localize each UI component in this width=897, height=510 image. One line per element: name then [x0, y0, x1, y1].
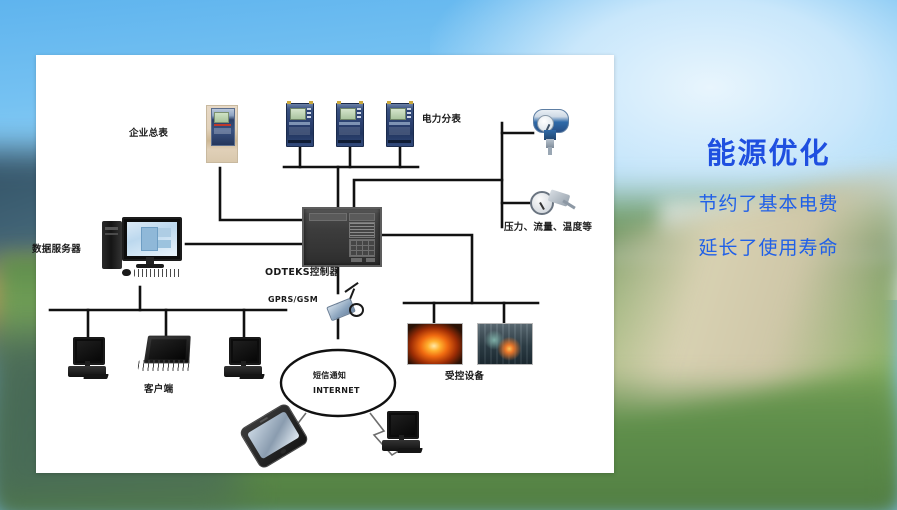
- client-screen: [233, 341, 257, 361]
- sub-meter-band2: [389, 127, 410, 135]
- phone-home-button[interactable]: [279, 448, 286, 454]
- odteks-controller-device[interactable]: [302, 207, 382, 267]
- main-meter-board: [206, 105, 238, 163]
- sub-meter-tab-right: [409, 101, 413, 104]
- sub-meters-label: 电力分表: [422, 115, 461, 126]
- sensors-label: 压力、流量、温度等: [504, 223, 592, 234]
- sub-meter-band: [389, 122, 410, 125]
- remote-pc[interactable]: [382, 411, 422, 455]
- client-pc-2[interactable]: [224, 337, 264, 381]
- sub-meter-keys: [307, 108, 311, 118]
- sub-meter-tab-left: [387, 101, 391, 104]
- modem-cable-loop: [349, 303, 364, 317]
- server-keyboard: [134, 269, 182, 277]
- controller-button-2[interactable]: [366, 258, 375, 262]
- controller-button-1[interactable]: [351, 258, 362, 262]
- flow-gauge-device[interactable]: [530, 187, 576, 221]
- controller-keypad[interactable]: [349, 239, 375, 257]
- sub-meter-tab-left: [337, 101, 341, 104]
- sub-meter-2[interactable]: [336, 103, 364, 147]
- benefit-line-2: 延长了使用寿命: [640, 233, 897, 260]
- sub-meter-seal: [388, 140, 411, 143]
- cloud-label-sms: 短信通知: [313, 371, 346, 380]
- sub-meter-seal: [288, 140, 311, 143]
- client-keyboard: [239, 374, 265, 379]
- sub-meter-band: [339, 122, 360, 125]
- main-meter-body: [211, 108, 235, 146]
- sub-meter-3[interactable]: [386, 103, 414, 147]
- server-drive-bay-2: [105, 233, 118, 235]
- sub-meter-keys: [357, 108, 361, 118]
- main-meter-lcd: [214, 112, 229, 123]
- remote-screen: [391, 415, 415, 435]
- server-screen: [127, 222, 177, 256]
- remote-keyboard: [397, 448, 423, 453]
- sub-meter-band: [289, 122, 310, 125]
- sub-meter-1[interactable]: [286, 103, 314, 147]
- controlled-equipment-photo-furnace: [407, 323, 463, 365]
- server-drive-bay: [105, 227, 118, 230]
- sub-meter-tab-right: [359, 101, 363, 104]
- server-screen-window: [141, 227, 158, 251]
- controller-display: [349, 222, 375, 238]
- client-laptop[interactable]: [138, 335, 194, 375]
- data-server-label: 数据服务器: [32, 245, 81, 256]
- pressure-transmitter-device[interactable]: [533, 107, 567, 157]
- controlled-equipment-photo-plant: [477, 323, 533, 365]
- sub-meter-band2: [289, 127, 310, 135]
- client-screen: [77, 341, 101, 361]
- client-keyboard: [83, 374, 109, 379]
- laptop-screen: [148, 339, 186, 359]
- sub-meter-tab-left: [287, 101, 291, 104]
- page-title: 能源优化: [640, 130, 897, 172]
- diagram-panel: 企业总表 电力分表: [36, 55, 614, 473]
- cloud-label-internet: INTERNET: [313, 386, 360, 395]
- main-meter-lowerstrip: [214, 128, 231, 134]
- clients-label: 客户端: [144, 385, 173, 396]
- monitor-base: [136, 264, 164, 268]
- laptop-base: [137, 360, 193, 371]
- sub-meter-seal: [338, 140, 361, 143]
- server-screen-panel-1: [158, 228, 171, 237]
- gprs-modem-device[interactable]: [328, 293, 362, 319]
- transmitter-tip: [548, 147, 552, 155]
- gprs-label: GPRS/GSM: [268, 295, 318, 304]
- main-meter-label: 企业总表: [129, 129, 168, 140]
- sub-meter-tab-right: [309, 101, 313, 104]
- controller-topbar-right: [349, 213, 375, 221]
- controller-topbar-left: [309, 213, 347, 221]
- data-server-device[interactable]: [98, 215, 186, 281]
- internet-cloud-shape: [281, 350, 395, 416]
- sub-meter-band2: [339, 127, 360, 135]
- controller-label: ODTEKS控制器: [265, 268, 339, 279]
- gauge-needle: [539, 202, 545, 210]
- benefit-line-1: 节约了基本电费: [640, 189, 897, 216]
- sub-meter-keys: [407, 108, 411, 118]
- marketing-text-block: 能源优化 节约了基本电费 延长了使用寿命: [640, 130, 897, 260]
- server-monitor: [122, 217, 182, 261]
- server-screen-panel-2: [158, 240, 171, 248]
- server-mouse: [122, 269, 131, 276]
- main-meter-device[interactable]: [206, 105, 236, 161]
- sub-meter-lcd: [290, 108, 306, 120]
- main-meter-redstrip: [214, 124, 231, 126]
- client-pc-1[interactable]: [68, 337, 108, 381]
- controlled-equipment-label: 受控设备: [445, 372, 484, 383]
- sub-meter-lcd: [340, 108, 356, 120]
- sub-meter-lcd: [390, 108, 406, 120]
